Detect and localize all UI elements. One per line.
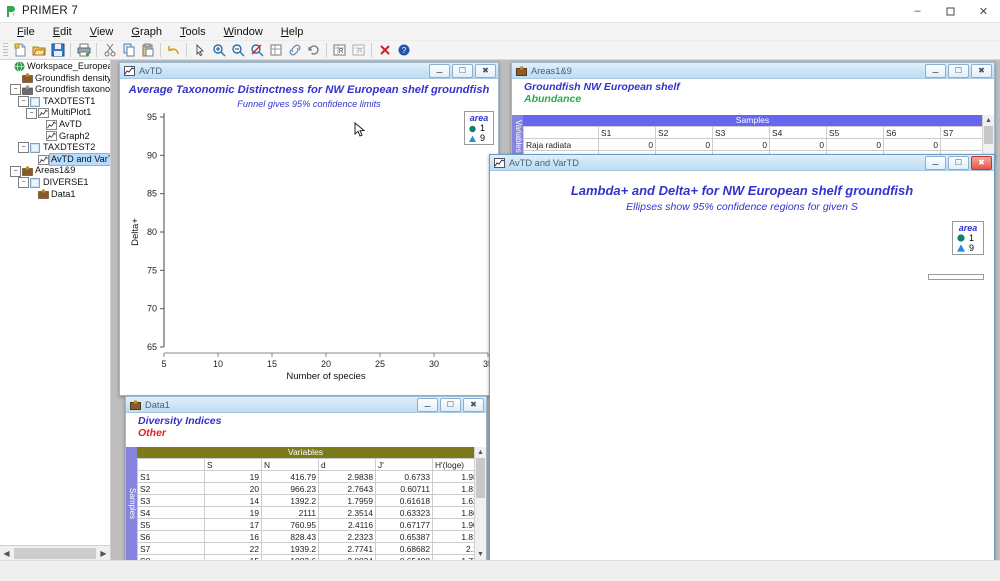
menu-tools[interactable]: Tools (171, 25, 215, 39)
y-axis-tick-label: 95 (147, 112, 157, 122)
column-header[interactable]: S3 (713, 127, 770, 139)
grid-icon[interactable] (266, 42, 285, 59)
row-header-cell[interactable]: S8 (138, 555, 205, 561)
table-cell[interactable]: 1392.2 (262, 495, 319, 507)
x-axis-tick-label: 15 (267, 359, 277, 369)
datasheet-icon (129, 399, 142, 411)
tree-node-diverse1[interactable]: −DIVERSE1 (0, 177, 110, 189)
zoom-reset-icon[interactable] (247, 42, 266, 59)
x-axis-tick-label: 10 (213, 359, 223, 369)
plot-icon (123, 65, 136, 77)
row-header-cell[interactable]: Raja radiata (524, 139, 599, 151)
tree-node-groundfish-taxonomy[interactable]: −Groundfish taxonomy (0, 84, 110, 96)
primer-application-window: r PRIMER 7 – ✕ File Edit View Graph Tool… (0, 0, 1000, 581)
tree-node-label: TAXDTEST2 (42, 142, 96, 154)
avtd-chart-canvas[interactable]: Average Taxonomic Distinctness for NW Eu… (120, 79, 498, 395)
toolbar-separator-5 (326, 43, 327, 57)
table-cell[interactable]: 760.95 (262, 519, 319, 531)
table-cell[interactable]: 1.7959 (319, 495, 376, 507)
row-header-cell[interactable]: S7 (138, 543, 205, 555)
tree-expander-toggle[interactable]: − (18, 177, 29, 188)
tree-node-multiplot1[interactable]: −MultiPlot1 (0, 107, 110, 119)
agg-icon (21, 84, 33, 95)
tree-node-label: TAXDTEST1 (42, 96, 96, 108)
toolbar-separator-4 (186, 43, 187, 57)
table-cell[interactable]: 0 (713, 139, 770, 151)
tree-expander-toggle[interactable]: − (18, 142, 29, 153)
tree-node-label: Groundfish density (34, 73, 110, 85)
y-axis-tick-label: 65 (147, 342, 157, 352)
row-header-cell[interactable]: S5 (138, 519, 205, 531)
tree-node-label: Data1 (50, 189, 77, 201)
status-bar (0, 560, 1000, 581)
sort-b-icon[interactable]: R (349, 42, 368, 59)
avtd-restore-button[interactable]: ✖ (475, 64, 496, 78)
table-row[interactable]: S616828.432.23230.653871.81290.76983 (138, 531, 475, 543)
tree-node-label: Groundfish taxonomy (34, 84, 110, 96)
avtd-minimize-button[interactable]: ⚊ (429, 64, 450, 78)
avtd-vartd-minimize-button[interactable]: ⚊ (925, 156, 946, 170)
sheet-icon (29, 142, 41, 153)
table-cell[interactable]: 2.7643 (319, 483, 376, 495)
tree-node-groundfish-density[interactable]: Groundfish density (0, 73, 110, 85)
tree-node-workspace-european-groundf[interactable]: Workspace_European_groundf (0, 61, 110, 73)
table-cell[interactable]: 0 (827, 139, 884, 151)
menu-edit[interactable]: Edit (44, 25, 81, 39)
table-cell[interactable]: 0.60711 (376, 483, 433, 495)
avtd-window-titlebar[interactable]: AvTD ⚊ ☐ ✖ (120, 63, 498, 79)
column-header[interactable]: S7 (941, 127, 983, 139)
menu-edit-rest: dit (60, 26, 72, 38)
menu-view[interactable]: View (81, 25, 123, 39)
avtd-vartd-maximize-button[interactable]: ☐ (948, 156, 969, 170)
tree-scroll-right-arrow[interactable]: ▶ (97, 547, 110, 560)
tree-node-taxdtest1[interactable]: −TAXDTEST1 (0, 96, 110, 108)
column-header[interactable]: H'(loge) (433, 459, 475, 471)
table-row[interactable]: S119416.792.98380.67331.98250.78597 (138, 471, 475, 483)
table-cell[interactable]: 0.68682 (376, 543, 433, 555)
table-cell[interactable]: 1.9825 (433, 471, 475, 483)
table-row[interactable]: S8151083.62.00340.654081.77130.71943 (138, 555, 475, 561)
tree-scroll-left-arrow[interactable]: ◀ (0, 547, 13, 560)
table-cell[interactable]: 1.8645 (433, 507, 475, 519)
open-icon[interactable] (29, 42, 48, 59)
zoom-out-icon[interactable] (228, 42, 247, 59)
areas-header-line2: Abundance (524, 93, 994, 105)
table-row[interactable]: S7221939.22.77410.686822.1230.81337 (138, 543, 475, 555)
column-header[interactable] (524, 127, 599, 139)
rotate-icon[interactable] (304, 42, 323, 59)
row-header-cell[interactable]: S4 (138, 507, 205, 519)
cut-icon[interactable] (100, 42, 119, 59)
mdi-client-area: AvTD ⚊ ☐ ✖ Average Taxonomic Distinctnes… (111, 60, 1000, 560)
ellipse-legend-title: area (953, 223, 983, 233)
app-titlebar: r PRIMER 7 – ✕ (0, 0, 1000, 23)
table-cell[interactable]: 0 (884, 139, 941, 151)
legend-circle-icon (956, 233, 966, 243)
table-cell[interactable]: 2.2323 (319, 531, 376, 543)
tree-node-avtd[interactable]: AvTD (0, 119, 110, 131)
app-minimize-button[interactable]: – (901, 0, 934, 22)
data-icon (21, 73, 33, 84)
menu-file-rest: ile (24, 26, 35, 38)
globe-icon (13, 61, 25, 72)
table-cell[interactable]: 17 (205, 519, 262, 531)
app-maximize-button[interactable] (934, 0, 967, 22)
row-header-cell[interactable]: S1 (138, 471, 205, 483)
ellipse-legend-entry-1[interactable]: 1 (953, 233, 983, 243)
main-toolbar: R R ? (0, 41, 1000, 60)
avtd-plot-svg: 657075808590955101520253035Number of spe… (120, 79, 498, 395)
table-cell[interactable]: 0 (770, 139, 827, 151)
workspace-body: Workspace_European_groundfGroundfish den… (0, 60, 1000, 560)
data1-minimize-button[interactable]: ⚊ (417, 398, 438, 412)
ellipse-plot-svg (490, 171, 994, 560)
app-close-button[interactable]: ✕ (967, 0, 1000, 22)
menu-graph-rest: raph (140, 26, 162, 38)
tree-node-avtd-and-vartd[interactable]: AvTD and VarTD (0, 154, 110, 166)
ellipse-contour-legend[interactable] (928, 274, 984, 280)
table-cell[interactable]: 19 (205, 471, 262, 483)
areas-band-label: Samples (523, 115, 982, 126)
app-title: PRIMER 7 (22, 5, 78, 17)
table-cell[interactable]: 16 (205, 531, 262, 543)
sort-a-icon[interactable]: R (330, 42, 349, 59)
data1-close-button[interactable]: ✖ (463, 398, 484, 412)
avtd-vartd-chart-canvas[interactable]: Lambda+ and Delta+ for NW European shelf… (490, 171, 994, 560)
table-cell[interactable]: 2.3514 (319, 507, 376, 519)
avtd-vartd-window-title: AvTD and VarTD (509, 158, 925, 168)
areas-header-line1: Groundfish NW European shelf (524, 81, 994, 93)
undo-icon[interactable] (164, 42, 183, 59)
table-cell[interactable]: 0.63323 (376, 507, 433, 519)
avtd-window-title: AvTD (139, 66, 429, 76)
datasheet-icon (515, 65, 528, 77)
data1-window[interactable]: Data1 ⚊ ☐ ✖ Diversity Indices Other Samp… (125, 396, 487, 560)
pointer-icon[interactable] (190, 42, 209, 59)
zoom-in-icon[interactable] (209, 42, 228, 59)
ellipse-legend-entry-2[interactable]: 9 (953, 243, 983, 253)
menu-bar: File Edit View Graph Tools Window Help (0, 23, 1000, 41)
table-header-row: SNdJ'H'(loge)1-Lambda' (138, 459, 475, 471)
menu-help[interactable]: Help (272, 25, 313, 39)
data1-data-table[interactable]: SNdJ'H'(loge)1-Lambda'S119416.792.98380.… (137, 458, 474, 560)
data1-maximize-button[interactable]: ☐ (440, 398, 461, 412)
table-cell[interactable]: 0 (599, 139, 656, 151)
delete-icon[interactable] (375, 42, 394, 59)
table-cell[interactable]: 15 (205, 555, 262, 561)
tree-expander-toggle[interactable]: − (26, 108, 37, 119)
tree-expander-toggle[interactable]: − (10, 166, 21, 177)
table-cell[interactable]: 1.9033 (433, 519, 475, 531)
tree-node-taxdtest2[interactable]: −TAXDTEST2 (0, 142, 110, 154)
print-icon[interactable] (74, 42, 93, 59)
sheet-icon (29, 177, 41, 188)
table-cell[interactable]: 1.8129 (433, 531, 475, 543)
table-cell[interactable]: 1.7713 (433, 555, 475, 561)
ellipse-legend-label-2: 9 (969, 243, 974, 253)
column-header[interactable]: S1 (599, 127, 656, 139)
tree-expander-toggle[interactable]: − (18, 96, 29, 107)
svg-text:R: R (339, 49, 344, 55)
areas-scroll-up-arrow[interactable]: ▲ (983, 115, 994, 126)
new-icon[interactable] (10, 42, 29, 59)
tree-expander-toggle[interactable]: − (10, 84, 21, 95)
data1-band-label: Variables (137, 447, 474, 458)
avtd-legend-entry-2[interactable]: 9 (465, 133, 493, 143)
y-axis-label: Delta+ (130, 218, 141, 246)
plot-icon (45, 119, 57, 130)
table-cell[interactable]: 1939.2 (262, 543, 319, 555)
column-header[interactable]: d (319, 459, 376, 471)
table-cell[interactable]: 828.43 (262, 531, 319, 543)
tree-node-label: Areas1&9 (34, 165, 76, 177)
menu-help-rest: elp (289, 26, 304, 38)
plot-icon (37, 108, 49, 119)
avtd-window[interactable]: AvTD ⚊ ☐ ✖ Average Taxonomic Distinctnes… (119, 62, 499, 396)
paste-icon[interactable] (138, 42, 157, 59)
menu-file[interactable]: File (8, 25, 44, 39)
svg-text:?: ? (401, 46, 406, 55)
table-header-row: S1S2S3S4S5S6S7S8S9 (524, 127, 983, 139)
avtd-vartd-window[interactable]: AvTD and VarTD ⚊ ☐ ✖ Lambda+ and Delta+ … (489, 154, 995, 560)
table-cell[interactable]: 0.6733 (376, 471, 433, 483)
avtd-legend-label-2: 9 (480, 133, 485, 143)
areas-scroll-thumb[interactable] (984, 126, 993, 144)
legend-triangle-icon (468, 134, 477, 143)
x-axis-tick-label: 30 (429, 359, 439, 369)
data1-sheet-body[interactable]: Diversity Indices Other Samples Variable… (126, 413, 486, 560)
tree-node-label: Graph2 (58, 131, 91, 143)
sheet-icon (29, 96, 41, 107)
table-cell[interactable]: 1.6261 (433, 495, 475, 507)
avtd-legend-title: area (465, 113, 493, 123)
column-header[interactable]: S (205, 459, 262, 471)
x-axis-tick-label: 20 (321, 359, 331, 369)
areas-close-button[interactable]: ✖ (971, 64, 992, 78)
table-cell[interactable]: 2.123 (433, 543, 475, 555)
table-cell[interactable]: 2.7741 (319, 543, 376, 555)
column-header[interactable]: J' (376, 459, 433, 471)
data1-header-line1: Diversity Indices (138, 415, 486, 427)
toolbar-separator-2 (96, 43, 97, 57)
table-cell[interactable]: 20 (205, 483, 262, 495)
areas-window[interactable]: Areas1&9 ⚊ ☐ ✖ Groundfish NW European sh… (511, 62, 995, 159)
table-cell[interactable]: 1083.6 (262, 555, 319, 561)
explorer-tree-pane: Workspace_European_groundfGroundfish den… (0, 60, 111, 560)
table-cell[interactable]: 2111 (262, 507, 319, 519)
save-icon[interactable] (48, 42, 67, 59)
table-row[interactable]: S41921112.35140.633231.86450.78317 (138, 507, 475, 519)
tree-hscrollbar[interactable]: ◀ ▶ (0, 545, 110, 560)
help-icon[interactable]: ? (394, 42, 413, 59)
table-cell[interactable]: 14 (205, 495, 262, 507)
avtd-legend[interactable]: area 1 9 (464, 111, 494, 145)
table-cell[interactable]: 1.8187 (433, 483, 475, 495)
avtd-vartd-close-button[interactable]: ✖ (971, 156, 992, 170)
data1-side-label: Samples (126, 447, 137, 560)
ellipse-legend-label-1: 1 (969, 233, 974, 243)
ellipse-area-legend[interactable]: area 1 9 (952, 221, 984, 255)
tree-node-label: MultiPlot1 (50, 107, 92, 119)
data1-scroll-down-arrow[interactable]: ▼ (475, 549, 486, 560)
column-header[interactable]: S4 (770, 127, 827, 139)
row-header-cell[interactable]: S3 (138, 495, 205, 507)
column-header[interactable]: N (262, 459, 319, 471)
table-cell[interactable]: 2.0034 (319, 555, 376, 561)
y-axis-tick-label: 80 (147, 227, 157, 237)
tree-node-label: AvTD (58, 119, 83, 131)
explorer-tree[interactable]: Workspace_European_groundfGroundfish den… (0, 60, 110, 545)
avtd-legend-label-1: 1 (480, 123, 485, 133)
svg-text:r: r (13, 12, 15, 18)
toolbar-separator-1 (70, 43, 71, 57)
table-cell[interactable]: 2.9838 (319, 471, 376, 483)
areas-maximize-button[interactable]: ☐ (948, 64, 969, 78)
avtd-legend-entry-1[interactable]: 1 (465, 123, 493, 133)
menu-graph[interactable]: Graph (122, 25, 171, 39)
table-cell[interactable]: 22 (205, 543, 262, 555)
x-axis-tick-label: 5 (161, 359, 166, 369)
table-cell[interactable]: 0.65408 (376, 555, 433, 561)
table-row[interactable]: S220966.232.76430.607111.81870.74457 (138, 483, 475, 495)
legend-circle-icon (468, 124, 477, 133)
y-axis-tick-label: 70 (147, 304, 157, 314)
data-icon (37, 189, 49, 200)
toolbar-separator-6 (371, 43, 372, 57)
areas-window-titlebar[interactable]: Areas1&9 ⚊ ☐ ✖ (512, 63, 994, 79)
areas-sheet-body[interactable]: Groundfish NW European shelf Abundance V… (512, 79, 994, 158)
table-row[interactable]: S3141392.21.79590.616181.62610.74148 (138, 495, 475, 507)
column-header[interactable]: S2 (656, 127, 713, 139)
tree-node-label: DIVERSE1 (42, 177, 89, 189)
tree-node-label: AvTD and VarTD (50, 154, 110, 166)
table-cell[interactable]: 19 (205, 507, 262, 519)
row-header-cell[interactable]: S2 (138, 483, 205, 495)
menu-window[interactable]: Window (215, 25, 272, 39)
column-header[interactable] (138, 459, 205, 471)
areas-minimize-button[interactable]: ⚊ (925, 64, 946, 78)
table-cell[interactable]: 0.67177 (376, 519, 433, 531)
avtd-vartd-window-titlebar[interactable]: AvTD and VarTD ⚊ ☐ ✖ (490, 155, 994, 171)
table-cell[interactable]: 416.79 (262, 471, 319, 483)
column-header[interactable]: S5 (827, 127, 884, 139)
data1-window-title: Data1 (145, 400, 417, 410)
column-header[interactable]: S6 (884, 127, 941, 139)
row-header-cell[interactable]: S6 (138, 531, 205, 543)
toolbar-separator-3 (160, 43, 161, 57)
areas-vscrollbar[interactable]: ▲ (982, 115, 994, 158)
y-axis-tick-label: 90 (147, 150, 157, 160)
x-axis-label: Number of species (286, 371, 365, 382)
areas-window-title: Areas1&9 (531, 66, 925, 76)
tree-node-graph2[interactable]: Graph2 (0, 131, 110, 143)
link-icon[interactable] (285, 42, 304, 59)
data1-vscrollbar[interactable]: ▲ ▼ (474, 447, 486, 560)
plot-icon (45, 131, 57, 142)
plot-icon (493, 157, 506, 169)
table-cell[interactable]: 0 (941, 139, 983, 151)
table-cell[interactable]: 0.61618 (376, 495, 433, 507)
legend-triangle-icon (956, 243, 966, 253)
menu-window-rest: indow (234, 26, 263, 38)
table-cell[interactable]: 966.23 (262, 483, 319, 495)
table-cell[interactable]: 0 (656, 139, 713, 151)
table-row[interactable]: Raja radiata00000000 (524, 139, 983, 151)
tree-node-label: Workspace_European_groundf (26, 61, 110, 73)
data1-scroll-thumb[interactable] (476, 458, 485, 498)
x-axis-tick-label: 25 (375, 359, 385, 369)
toolbar-grip[interactable] (3, 43, 8, 57)
table-row[interactable]: S517760.952.41160.671771.90330.78579 (138, 519, 475, 531)
table-cell[interactable]: 2.4116 (319, 519, 376, 531)
avtd-maximize-button[interactable]: ☐ (452, 64, 473, 78)
y-axis-tick-label: 85 (147, 189, 157, 199)
tree-node-areas1-9[interactable]: −Areas1&9 (0, 165, 110, 177)
data1-header-line2: Other (138, 427, 486, 439)
y-axis-tick-label: 75 (147, 265, 157, 275)
menu-view-rest: iew (97, 26, 114, 38)
data1-window-titlebar[interactable]: Data1 ⚊ ☐ ✖ (126, 397, 486, 413)
areas-side-label: Variables (512, 115, 523, 158)
menu-tools-rest: ools (185, 26, 205, 38)
data1-scroll-up-arrow[interactable]: ▲ (475, 447, 486, 458)
tree-node-data1[interactable]: Data1 (0, 189, 110, 201)
svg-text:R: R (358, 49, 363, 55)
tree-scroll-thumb[interactable] (14, 548, 96, 559)
data-icon (21, 166, 33, 177)
app-logo-icon: r (0, 5, 22, 18)
copy-icon[interactable] (119, 42, 138, 59)
plot-icon (37, 154, 49, 165)
table-cell[interactable]: 0.65387 (376, 531, 433, 543)
